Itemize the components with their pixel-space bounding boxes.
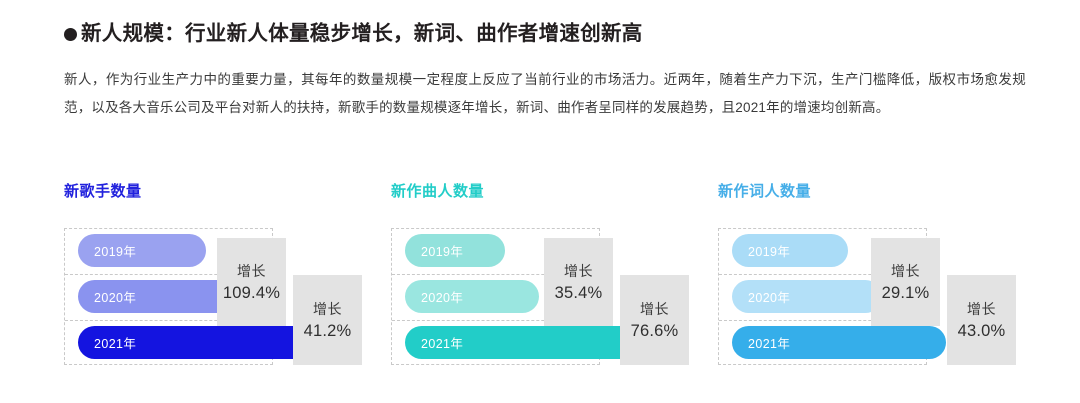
bullet-icon	[64, 28, 77, 41]
bar-2021[interactable]: 2021年	[78, 326, 319, 359]
bar-2019[interactable]: 2019年	[732, 234, 848, 267]
chart-title: 新作曲人数量	[391, 180, 484, 201]
page-title: 新人规模：行业新人体量稳步增长，新词、曲作者增速创新高	[81, 22, 643, 47]
growth-value: 109.4%	[223, 282, 280, 304]
chart-new-singers: 新歌手数量 2019年 2020年 2021年 增长 109.4%	[64, 180, 392, 380]
bar-label: 2021年	[732, 333, 790, 352]
bar-2019[interactable]: 2019年	[405, 234, 505, 267]
growth-value: 35.4%	[555, 282, 603, 304]
growth-panel-2: 增长 43.0%	[947, 275, 1016, 365]
growth-panel-2: 增长 41.2%	[293, 275, 362, 365]
bar-label: 2021年	[78, 333, 136, 352]
growth-label: 增长	[891, 261, 920, 282]
bar-label: 2020年	[405, 287, 463, 306]
bar-2020[interactable]: 2020年	[732, 280, 882, 313]
slide-page: 新人规模：行业新人体量稳步增长，新词、曲作者增速创新高 新人，作为行业生产力中的…	[0, 0, 1080, 403]
chart-new-lyricists: 新作词人数量 2019年 2020年 2021年 增长 29.1%	[718, 180, 1046, 380]
growth-panel-1: 增长 109.4%	[217, 238, 286, 326]
growth-label: 增长	[313, 299, 342, 320]
growth-value: 76.6%	[631, 320, 679, 342]
bar-2019[interactable]: 2019年	[78, 234, 206, 267]
bar-label: 2020年	[732, 287, 790, 306]
charts-row: 新歌手数量 2019年 2020年 2021年 增长 109.4%	[0, 180, 1080, 380]
chart-new-composers: 新作曲人数量 2019年 2020年 2021年 增长 35.4%	[391, 180, 719, 380]
growth-value: 29.1%	[882, 282, 930, 304]
growth-label: 增长	[967, 299, 996, 320]
bar-label: 2021年	[405, 333, 463, 352]
growth-label: 增长	[237, 261, 266, 282]
growth-value: 43.0%	[958, 320, 1006, 342]
page-heading: 新人规模：行业新人体量稳步增长，新词、曲作者增速创新高	[64, 22, 1024, 47]
chart-title: 新作词人数量	[718, 180, 811, 201]
bar-label: 2020年	[78, 287, 136, 306]
bar-2021[interactable]: 2021年	[732, 326, 946, 359]
bar-2020[interactable]: 2020年	[405, 280, 539, 313]
body-paragraph: 新人，作为行业生产力中的重要力量，其每年的数量规模一定程度上反应了当前行业的市场…	[64, 66, 1026, 122]
bar-2021[interactable]: 2021年	[405, 326, 646, 359]
chart-title: 新歌手数量	[64, 180, 142, 201]
growth-value: 41.2%	[304, 320, 352, 342]
growth-label: 增长	[640, 299, 669, 320]
bar-label: 2019年	[732, 241, 790, 260]
growth-label: 增长	[564, 261, 593, 282]
bar-label: 2019年	[405, 241, 463, 260]
bar-label: 2019年	[78, 241, 136, 260]
growth-panel-2: 增长 76.6%	[620, 275, 689, 365]
growth-panel-1: 增长 35.4%	[544, 238, 613, 326]
growth-panel-1: 增长 29.1%	[871, 238, 940, 326]
